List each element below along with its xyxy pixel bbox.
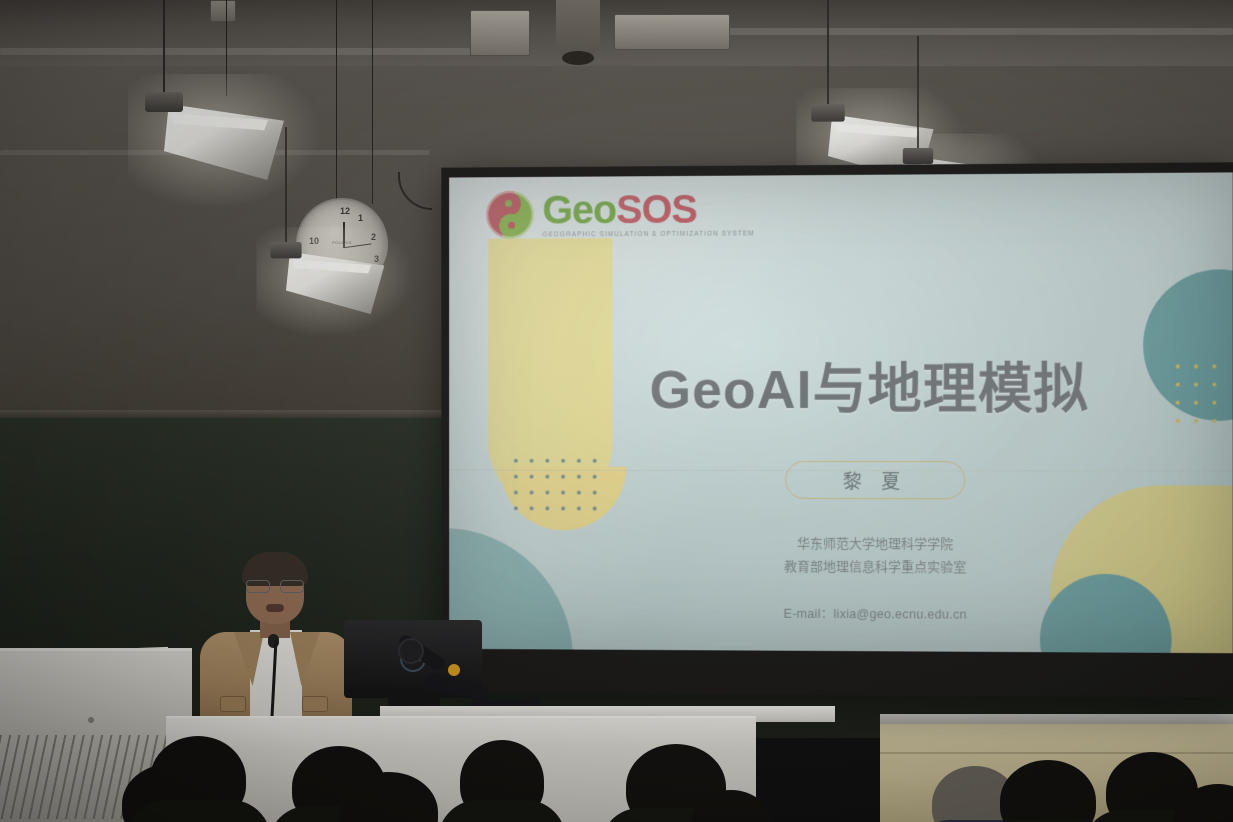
clock-number: 2 — [371, 232, 376, 242]
logo-word-sos: SOS — [616, 188, 697, 232]
presenter-pocket — [302, 696, 328, 712]
email-line: E-mail：lixia@geo.ecnu.edu.cn — [706, 602, 1046, 623]
cabinet-lock — [88, 717, 94, 723]
clock-number: 1 — [358, 213, 363, 223]
ceiling-vent — [614, 14, 730, 50]
camera-joint — [398, 638, 424, 664]
ceiling-projector — [556, 0, 600, 58]
geosos-yinyang-icon — [486, 191, 533, 239]
hanging-wire — [226, 0, 227, 96]
audience-head — [150, 736, 246, 822]
logo-word-geo: Geo — [542, 188, 616, 232]
geosos-wordmark: GeoSOS GEOGRAPHIC SIMULATION & OPTIMIZAT… — [542, 189, 754, 238]
projected-slide: GeoSOS GEOGRAPHIC SIMULATION & OPTIMIZAT… — [449, 172, 1233, 653]
clock-number: 3 — [374, 254, 379, 264]
ceiling-rail — [0, 48, 470, 55]
presenter-mouth — [266, 604, 284, 612]
clock-brand: POLARIS — [332, 240, 351, 245]
email-value: lixia@geo.ecnu.edu.cn — [834, 607, 967, 622]
slide-title: GeoAI与地理模拟 — [634, 344, 1104, 424]
audience-head — [460, 740, 544, 822]
lecture-hall-scene: 12 1 2 3 4 10 POLARIS — [0, 0, 1233, 822]
projection-screen-frame: GeoSOS GEOGRAPHIC SIMULATION & OPTIMIZAT… — [441, 162, 1233, 697]
presenter-pocket — [220, 696, 246, 712]
ceiling-vent — [210, 0, 236, 22]
affiliation-block: 华东师范大学地理科学学院 教育部地理信息科学重点实验室 — [706, 533, 1046, 580]
ceiling-vent — [470, 10, 530, 56]
affiliation-line-1: 华东师范大学地理科学学院 — [706, 533, 1046, 557]
decor-dot-grid-right — [1176, 364, 1217, 423]
glasses-icon — [246, 580, 304, 591]
hanging-wire — [372, 0, 373, 204]
clock-number: 12 — [340, 206, 350, 216]
decor-dot-grid-left — [514, 459, 597, 511]
clock-number: 10 — [309, 236, 319, 246]
hanging-wire — [336, 0, 337, 200]
camera-badge — [448, 664, 460, 676]
affiliation-line-2: 教育部地理信息科学重点实验室 — [706, 555, 1046, 579]
speaker-name-badge: 黎 夏 — [785, 461, 965, 499]
geosos-logo: GeoSOS GEOGRAPHIC SIMULATION & OPTIMIZAT… — [486, 189, 754, 239]
logo-subtitle: GEOGRAPHIC SIMULATION & OPTIMIZATION SYS… — [542, 231, 754, 239]
email-label: E-mail： — [784, 607, 834, 621]
clock-hour-hand — [343, 222, 345, 248]
ceiling-rail — [700, 28, 1233, 35]
